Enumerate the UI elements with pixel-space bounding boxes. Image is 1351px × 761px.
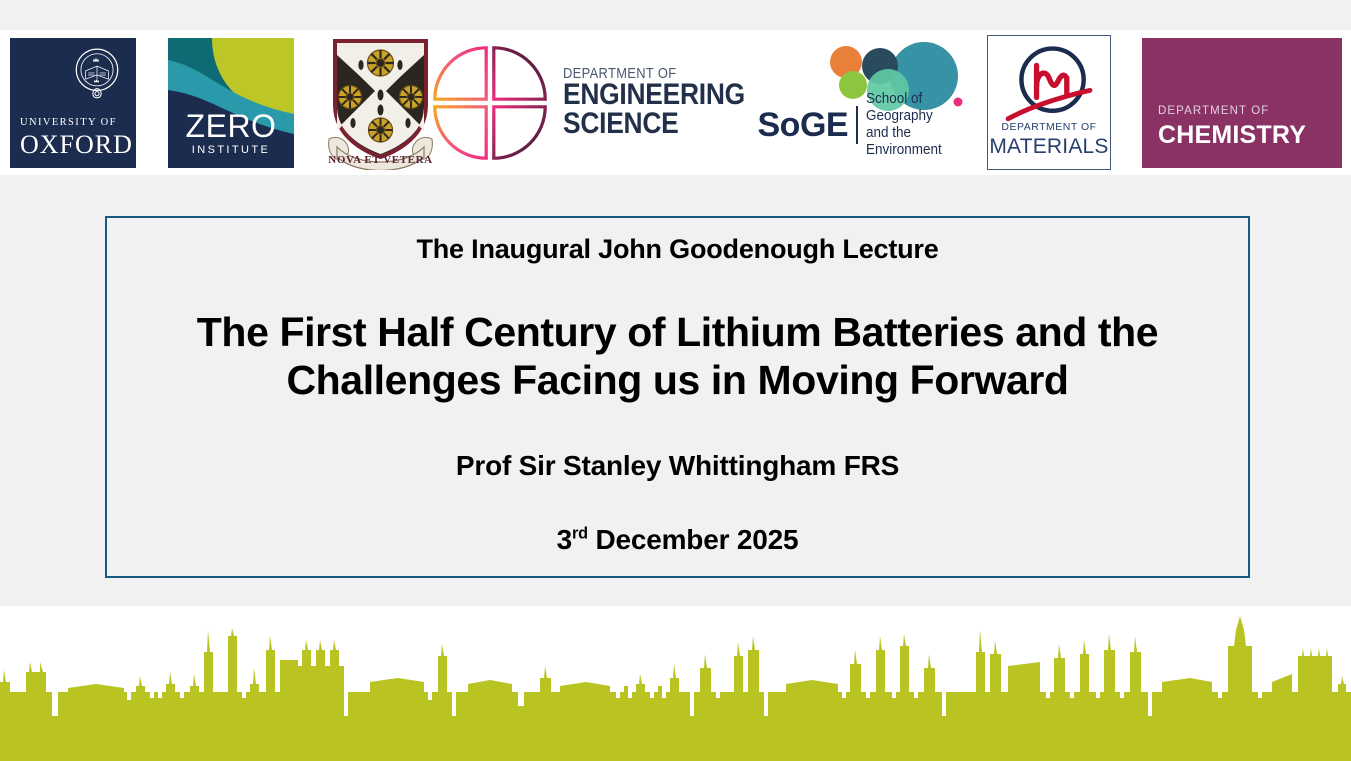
chemistry-line-1: DEPARTMENT OF bbox=[1158, 106, 1306, 118]
materials-line-1: DEPARTMENT OF bbox=[988, 122, 1110, 133]
materials-logo-text: DEPARTMENT OF MATERIALS bbox=[988, 122, 1110, 158]
logo-department-of-chemistry: DEPARTMENT OF CHEMISTRY bbox=[1139, 30, 1345, 175]
skyline-silhouette bbox=[0, 606, 1351, 761]
engineering-line-3: SCIENCE bbox=[563, 110, 745, 138]
date-day: 3 bbox=[557, 524, 572, 555]
oxford-logo-box: UNIVERSITY OF OXFORD bbox=[10, 38, 136, 168]
lecture-series-title: The Inaugural John Goodenough Lecture bbox=[107, 234, 1248, 265]
date-ordinal-suffix: rd bbox=[572, 524, 588, 542]
logo-school-of-geography: SoGE School of Geography and the Environ… bbox=[748, 30, 970, 175]
college-crest-wrap: NOVA ET VETERA bbox=[323, 35, 438, 170]
zero-logo-box: ZERO INSTITUTE bbox=[168, 38, 294, 168]
logo-zero-institute: ZERO INSTITUTE bbox=[165, 30, 297, 175]
soge-logo-text: SoGE School of Geography and the Environ… bbox=[758, 91, 967, 159]
college-shield-icon: NOVA ET VETERA bbox=[323, 35, 438, 170]
soge-logo-wrap: SoGE School of Geography and the Environ… bbox=[752, 38, 967, 168]
soge-abbreviation: SoGE bbox=[758, 108, 849, 142]
logo-strip: UNIVERSITY OF OXFORD ZERO INSTITUTE bbox=[0, 30, 1351, 175]
engineering-quadrant-icon bbox=[431, 44, 549, 162]
logo-university-of-oxford: UNIVERSITY OF OXFORD bbox=[8, 30, 138, 175]
lecture-title: The First Half Century of Lithium Batter… bbox=[107, 308, 1248, 405]
logo-engineering-science: DEPARTMENT OF ENGINEERING SCIENCE bbox=[455, 30, 745, 175]
date-rest: December 2025 bbox=[588, 524, 798, 555]
soge-full-name: School of Geography and the Environment bbox=[866, 91, 960, 159]
presentation-slide: UNIVERSITY OF OXFORD ZERO INSTITUTE bbox=[0, 0, 1351, 761]
zero-logo-text: ZERO INSTITUTE bbox=[168, 110, 294, 156]
chemistry-logo-box: DEPARTMENT OF CHEMISTRY bbox=[1142, 38, 1342, 168]
engineering-line-2: ENGINEERING bbox=[563, 81, 745, 109]
college-motto: NOVA ET VETERA bbox=[328, 154, 432, 166]
chemistry-logo-text: DEPARTMENT OF CHEMISTRY bbox=[1158, 106, 1306, 148]
zero-line-2: INSTITUTE bbox=[168, 145, 294, 156]
engineering-logo-text: DEPARTMENT OF ENGINEERING SCIENCE bbox=[563, 67, 770, 137]
oxford-skyline-banner bbox=[0, 606, 1351, 761]
logo-college-crest: NOVA ET VETERA bbox=[318, 30, 443, 175]
materials-line-2: MATERIALS bbox=[988, 136, 1110, 157]
lecture-date: 3rd December 2025 bbox=[107, 524, 1248, 556]
oxford-line-1: UNIVERSITY OF bbox=[20, 118, 133, 129]
oxford-logo-text: UNIVERSITY OF OXFORD bbox=[20, 118, 133, 158]
logo-department-of-materials: DEPARTMENT OF MATERIALS bbox=[986, 30, 1112, 175]
engineering-logo-wrap: DEPARTMENT OF ENGINEERING SCIENCE bbox=[431, 44, 770, 162]
zero-line-1: ZERO bbox=[168, 110, 294, 142]
oxford-line-2: OXFORD bbox=[20, 132, 133, 158]
title-card: The Inaugural John Goodenough Lecture Th… bbox=[105, 216, 1250, 578]
oxford-crest-icon bbox=[71, 47, 123, 103]
materials-logo-box: DEPARTMENT OF MATERIALS bbox=[987, 35, 1111, 170]
chemistry-line-2: CHEMISTRY bbox=[1158, 123, 1306, 148]
materials-mu-icon bbox=[1001, 42, 1097, 128]
soge-line-1: School of Geography bbox=[866, 91, 960, 125]
speaker-name: Prof Sir Stanley Whittingham FRS bbox=[107, 450, 1248, 482]
soge-line-2: and the Environment bbox=[866, 125, 960, 159]
soge-divider bbox=[856, 106, 857, 144]
